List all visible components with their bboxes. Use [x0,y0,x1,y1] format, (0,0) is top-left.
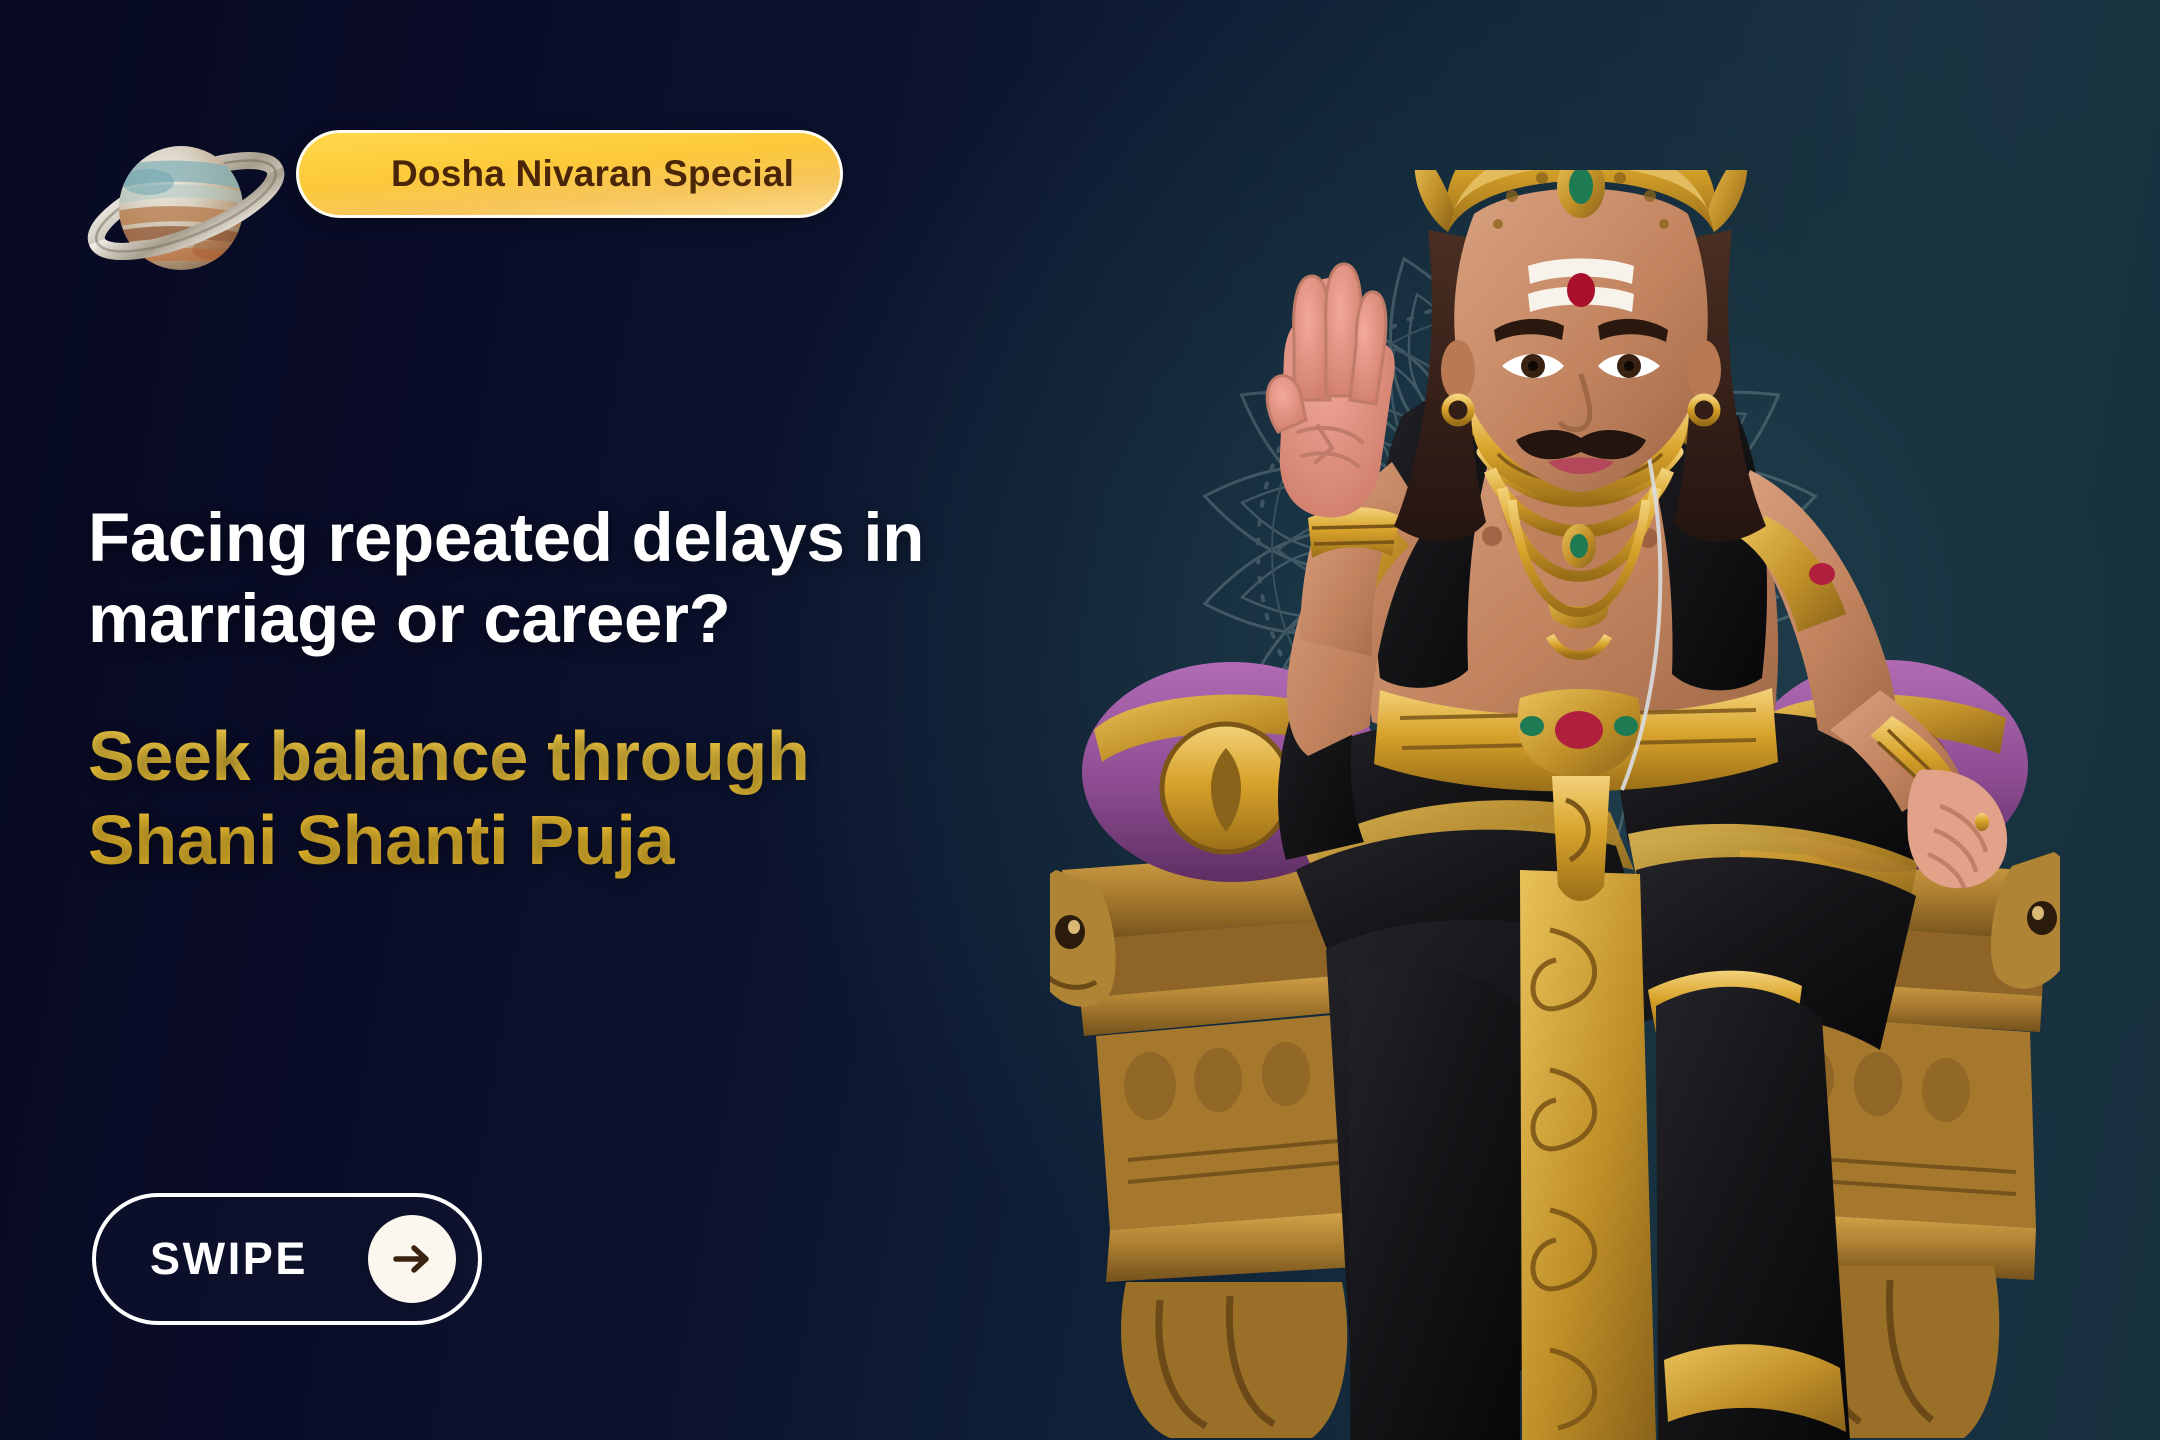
badge-label: Dosha Nivaran Special [391,153,794,195]
swipe-label: SWIPE [150,1233,308,1285]
headline-block: Facing repeated delays in marriage or ca… [88,498,1088,882]
swipe-button[interactable]: SWIPE [92,1193,482,1325]
promo-banner: Dosha Nivaran Special [0,0,2160,1440]
headline-line-1: Facing repeated delays in [88,498,1088,579]
arrow-right-icon [389,1236,435,1282]
subheadline-block: Seek balance through Shani Shanti Puja [88,715,1088,882]
lord-shani-illustration [1050,170,2060,1440]
badge-pill: Dosha Nivaran Special [296,130,843,218]
headline-line-2: marriage or career? [88,579,1088,660]
subheadline-line-2: Shani Shanti Puja [88,799,1088,882]
swipe-arrow-circle[interactable] [368,1215,456,1303]
subheadline-line-1: Seek balance through [88,715,1088,798]
saturn-planet-icon [86,108,286,298]
